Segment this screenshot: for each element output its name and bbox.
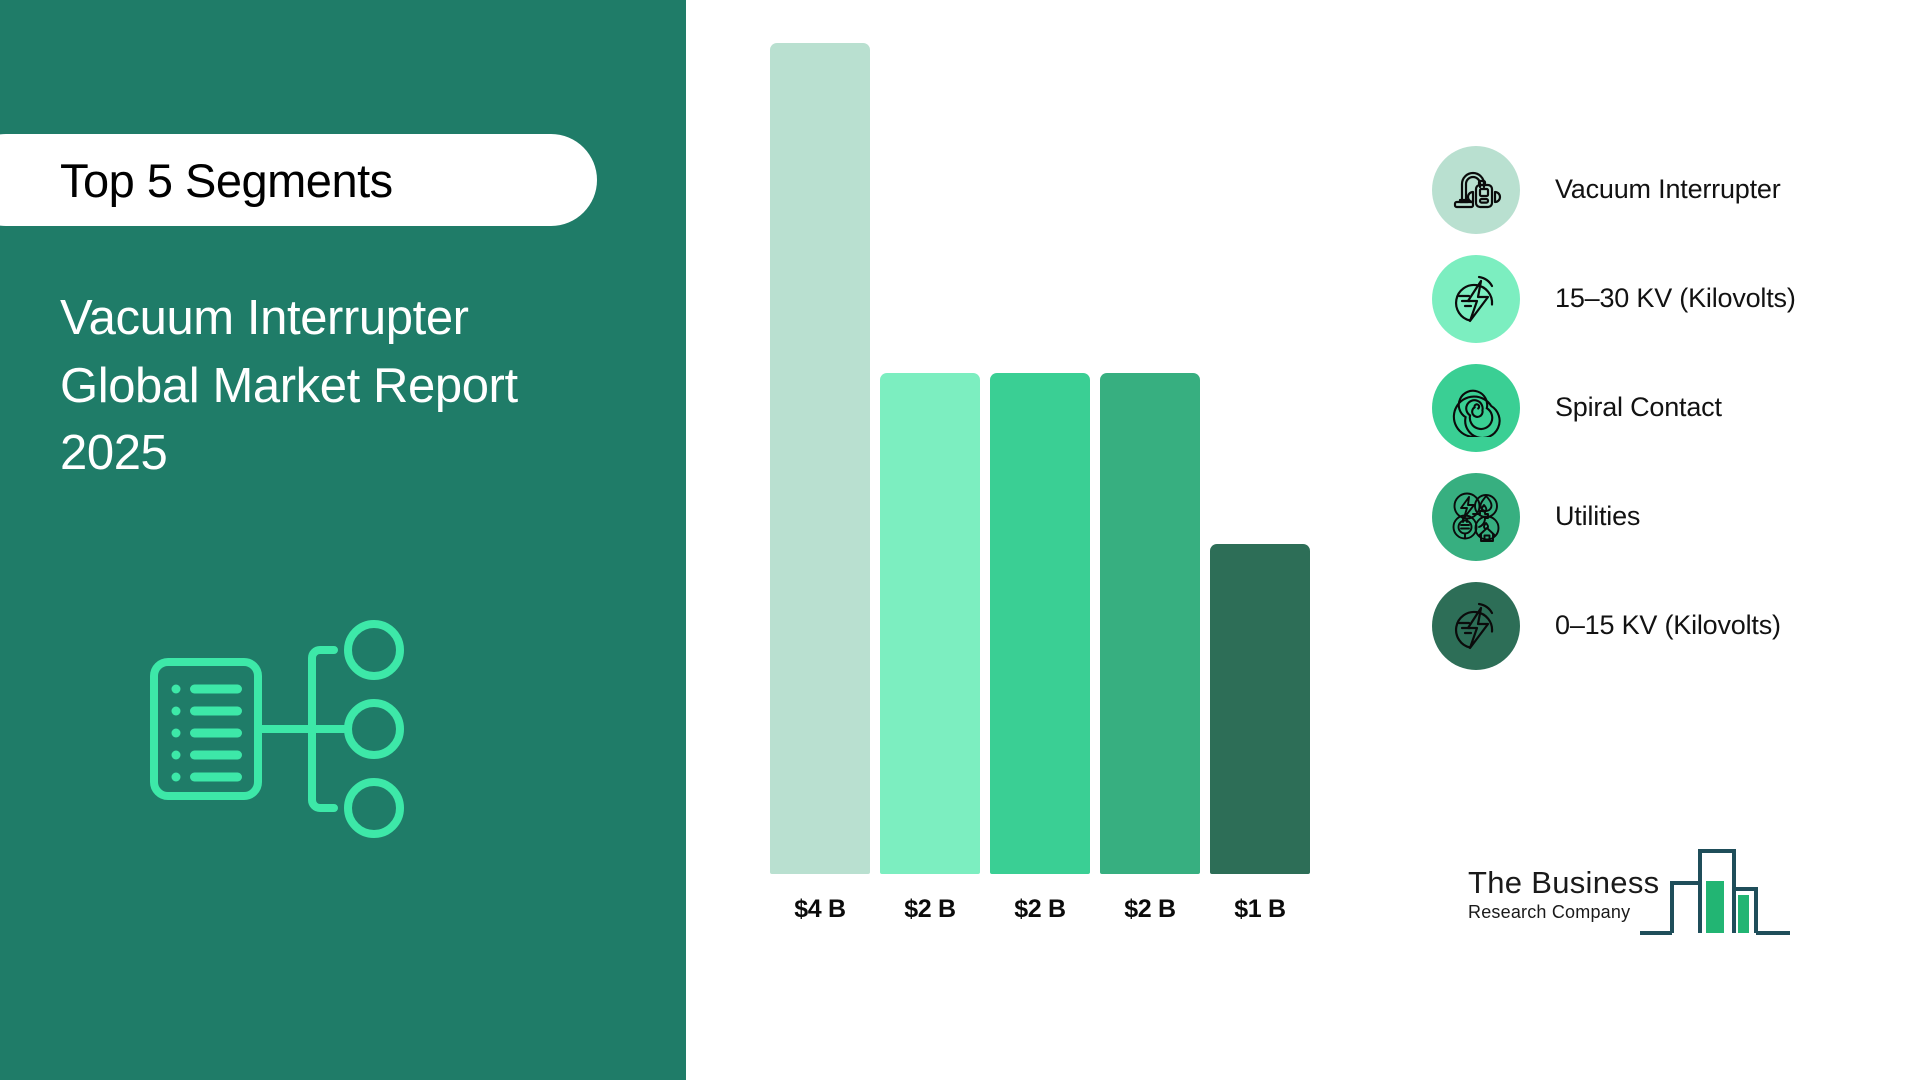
bar-3 xyxy=(1100,373,1200,874)
infographic-canvas: Top 5 Segments Vacuum Interrupter Global… xyxy=(0,0,1920,1080)
utilities-icon xyxy=(1432,473,1520,561)
bar-label-2: $2 B xyxy=(990,895,1090,924)
top-segments-badge: Top 5 Segments xyxy=(0,134,597,226)
document-tree-illustration xyxy=(150,610,450,850)
legend-item-15-30-kv: 15–30 KV (Kilovolts) xyxy=(1432,244,1902,353)
report-title: Vacuum Interrupter Global Market Report … xyxy=(60,285,660,488)
bar-chart-value-labels: $4 B $2 B $2 B $2 B $1 B xyxy=(770,895,1330,935)
bar-label-0: $4 B xyxy=(770,895,870,924)
legend-item-utilities: Utilities xyxy=(1432,462,1902,571)
legend-label-0: Vacuum Interrupter xyxy=(1555,174,1781,205)
bar-label-4: $1 B xyxy=(1210,895,1310,924)
legend-item-spiral-contact: Spiral Contact xyxy=(1432,353,1902,462)
bar-0 xyxy=(770,43,870,874)
legend-label-3: Utilities xyxy=(1555,501,1640,532)
lightning-bolt-icon xyxy=(1432,582,1520,670)
report-title-line-3: 2025 xyxy=(60,420,660,488)
top-segments-badge-label: Top 5 Segments xyxy=(60,153,393,208)
bar-label-1: $2 B xyxy=(880,895,980,924)
lightning-bolt-icon xyxy=(1432,255,1520,343)
bar-4 xyxy=(1210,544,1310,874)
report-title-line-1: Vacuum Interrupter xyxy=(60,285,660,353)
vacuum-cleaner-icon xyxy=(1432,146,1520,234)
company-logo: The Business Research Company xyxy=(1468,845,1788,960)
bar-chart-bars xyxy=(770,0,1330,874)
legend-label-2: Spiral Contact xyxy=(1555,392,1722,423)
report-title-line-2: Global Market Report xyxy=(60,353,660,421)
bar-2 xyxy=(990,373,1090,874)
spiral-icon xyxy=(1432,364,1520,452)
legend-label-1: 15–30 KV (Kilovolts) xyxy=(1555,283,1796,314)
legend-label-4: 0–15 KV (Kilovolts) xyxy=(1555,610,1781,641)
left-panel: Top 5 Segments Vacuum Interrupter Global… xyxy=(0,0,686,1080)
legend-item-vacuum-interrupter: Vacuum Interrupter xyxy=(1432,135,1902,244)
legend-item-0-15-kv: 0–15 KV (Kilovolts) xyxy=(1432,571,1902,680)
bar-chart-logo-mark xyxy=(1638,845,1793,950)
chart-legend: Vacuum Interrupter 15–30 KV (Kilovolts) … xyxy=(1432,135,1902,680)
bar-label-3: $2 B xyxy=(1100,895,1200,924)
bar-1 xyxy=(880,373,980,874)
